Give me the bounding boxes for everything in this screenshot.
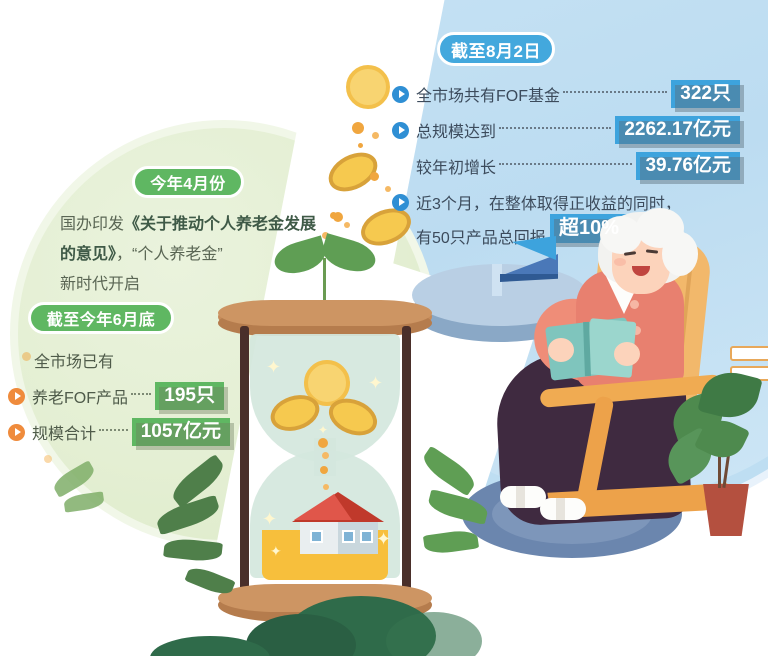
policy-line-3: 新时代开启 bbox=[60, 270, 316, 300]
leader-dots bbox=[499, 163, 632, 165]
coin-dot-icon bbox=[358, 143, 363, 148]
cheek-blush bbox=[614, 258, 626, 266]
hourglass-post-right bbox=[402, 326, 411, 606]
stat-value-chip: 195只 bbox=[155, 382, 224, 410]
house-window bbox=[310, 530, 323, 543]
shoe-strap bbox=[516, 486, 525, 508]
hourglass: ✦ ✦ ✦ ✦ ✦ ✦ bbox=[212, 300, 438, 646]
green-date-badge-mid-label: 截至今年6月底 bbox=[47, 306, 155, 330]
play-bullet-icon bbox=[392, 194, 409, 211]
stat-label: 规模合计 bbox=[32, 420, 96, 444]
stat-label: 总规模达到 bbox=[416, 118, 496, 142]
book-item bbox=[730, 346, 768, 361]
play-bullet-icon bbox=[8, 388, 25, 405]
green-date-badge-top: 今年4月份 bbox=[132, 166, 244, 198]
callout-return-chip: 超10% bbox=[550, 214, 628, 243]
play-bullet-icon bbox=[392, 86, 409, 103]
sparkle-icon: ✦ bbox=[376, 530, 391, 548]
coin-dot-icon bbox=[385, 186, 391, 192]
policy-line-2-post: ，“个人养老金” bbox=[116, 246, 223, 263]
infographic-canvas: 截至8月2日 全市场共有FOF基金 322只 总规模达到 2262.17亿元 较… bbox=[0, 0, 768, 656]
sprout-stem bbox=[323, 258, 326, 304]
house-window bbox=[360, 530, 373, 543]
coin-dot-icon bbox=[330, 212, 337, 219]
leader-dots bbox=[99, 429, 128, 431]
play-bullet-icon bbox=[8, 424, 25, 441]
stat-label: 全市场共有FOF基金 bbox=[416, 82, 560, 106]
coin-dot-icon bbox=[344, 222, 350, 228]
coin-dot-icon bbox=[322, 452, 329, 459]
policy-line-1-pre: 国办印发 bbox=[60, 216, 124, 233]
coin-dot-icon bbox=[352, 122, 364, 134]
foliage-leaf bbox=[63, 491, 105, 512]
hand-left bbox=[548, 338, 574, 362]
coin-dot-icon bbox=[370, 172, 379, 181]
policy-line-1: 国办印发《关于推动个人养老金发展 bbox=[60, 210, 316, 240]
leader-dots bbox=[563, 91, 667, 93]
sparkle-icon: ✦ bbox=[266, 358, 281, 376]
coin-dot-icon bbox=[44, 455, 52, 463]
stat-value: 2262.17亿元 bbox=[624, 119, 731, 140]
stat-value-chip: 322只 bbox=[671, 80, 740, 108]
green-date-badge-top-label: 今年4月份 bbox=[150, 170, 225, 194]
stat-row-total-scale: 总规模达到 2262.17亿元 bbox=[392, 116, 740, 144]
stat-value: 195只 bbox=[164, 385, 215, 406]
hourglass-post-left bbox=[240, 326, 249, 606]
green-subtitle-label: 全市场已有 bbox=[34, 348, 114, 372]
house-icon bbox=[292, 492, 384, 554]
hair-curl bbox=[662, 232, 698, 276]
green-subtitle: 全市场已有 bbox=[34, 348, 114, 372]
stat-row-ytd-growth: 较年初增长 39.76亿元 bbox=[416, 152, 740, 180]
hourglass-cap-top-face bbox=[218, 300, 432, 326]
sparkle-icon: ✦ bbox=[368, 374, 383, 392]
coin-dot-icon bbox=[323, 484, 329, 490]
stat-value-chip: 2262.17亿元 bbox=[615, 116, 740, 144]
coin-dot-icon bbox=[318, 438, 328, 448]
callout-tail-icon bbox=[512, 236, 556, 260]
stat-value: 39.76亿元 bbox=[645, 155, 731, 176]
stat-label: 较年初增长 bbox=[416, 154, 496, 178]
sparkle-icon: ✦ bbox=[270, 544, 282, 558]
house-roof-highlight bbox=[294, 494, 352, 520]
callout-value: 超10% bbox=[559, 217, 619, 239]
hourglass-glass: ✦ ✦ ✦ ✦ ✦ ✦ bbox=[250, 334, 400, 578]
sparkle-icon: ✦ bbox=[262, 510, 277, 528]
blue-date-badge: 截至8月2日 bbox=[437, 32, 555, 66]
stat-row-pension-scale: 规模合计 1057亿元 bbox=[8, 418, 230, 446]
stat-value: 322只 bbox=[680, 83, 731, 104]
button-icon bbox=[630, 300, 639, 309]
play-bullet-icon bbox=[392, 122, 409, 139]
stat-row-pension-fof: 养老FOF产品 195只 bbox=[8, 382, 224, 410]
house-window bbox=[342, 530, 355, 543]
stat-value-chip: 39.76亿元 bbox=[636, 152, 740, 180]
coin-dot-icon bbox=[320, 466, 328, 474]
stat-row-fof-count: 全市场共有FOF基金 322只 bbox=[392, 80, 740, 108]
stat-value: 1057亿元 bbox=[141, 421, 221, 442]
stat-label: 养老FOF产品 bbox=[32, 384, 128, 408]
note-line-1: 近3个月，在整体取得正收益的同时， bbox=[416, 190, 681, 214]
coin-dot-icon bbox=[372, 132, 379, 139]
note-row-line1: 近3个月，在整体取得正收益的同时， bbox=[392, 190, 681, 214]
coin-dot-icon bbox=[22, 352, 31, 361]
policy-doc-title-part2: 的意见》 bbox=[60, 246, 116, 263]
green-date-badge-mid: 截至今年6月底 bbox=[28, 302, 174, 334]
blue-date-badge-label: 截至8月2日 bbox=[451, 37, 541, 62]
sparkle-icon: ✦ bbox=[318, 424, 328, 436]
hand-right bbox=[614, 342, 640, 366]
leader-dots bbox=[131, 393, 151, 395]
coin-icon bbox=[346, 65, 390, 109]
stat-value-chip: 1057亿元 bbox=[132, 418, 230, 446]
leader-dots bbox=[499, 127, 611, 129]
shoe-strap bbox=[556, 498, 565, 520]
policy-doc-title-part1: 《关于推动个人养老金发展 bbox=[124, 216, 316, 233]
